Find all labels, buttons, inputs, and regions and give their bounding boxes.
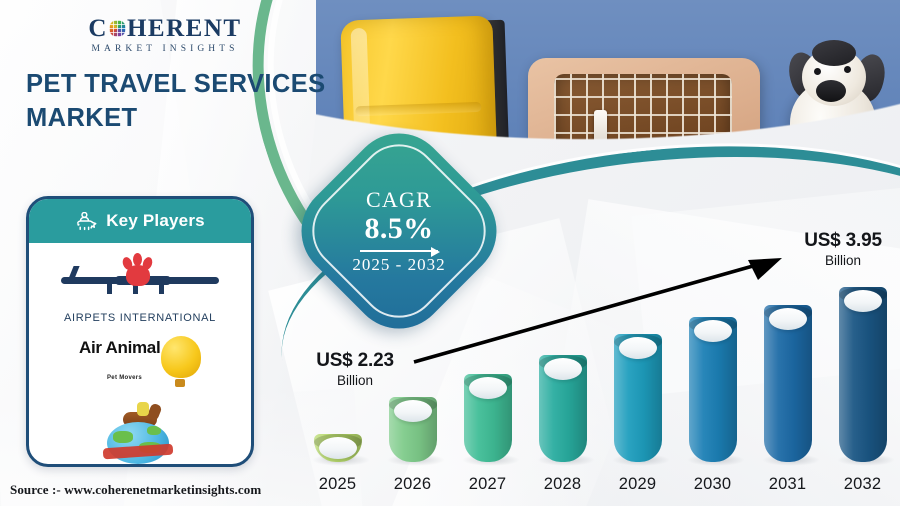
bar-category-label: 2031: [760, 475, 816, 494]
brand-logo: CHERENT MARKET INSIGHTS: [70, 16, 260, 54]
paw-pad: [126, 265, 150, 286]
brand-logo-suffix: HERENT: [127, 15, 242, 42]
hot-air-balloon-icon: Air Animal Pet Movers: [55, 337, 225, 387]
page-title-line2: MARKET: [26, 102, 326, 136]
bar-cylinder-cap: [769, 308, 807, 330]
bar-category-label: 2028: [535, 475, 591, 494]
bar-category-label: 2025: [310, 475, 366, 494]
callout-end-unit: Billion: [788, 253, 898, 268]
callout-end-value: US$ 3.95 Billion: [788, 230, 898, 268]
bar-category-label: 2030: [685, 475, 741, 494]
bar-cylinder[interactable]: [839, 287, 887, 462]
airplane-wheel: [107, 284, 112, 294]
dog-head-patch: [812, 40, 856, 66]
source-note: Source :- www.coherenetmarketinsights.co…: [10, 482, 261, 498]
key-players-header: Key Players: [29, 199, 251, 243]
bar-cylinder-cap: [319, 437, 357, 459]
cagr-label: CAGR: [366, 187, 432, 213]
globe-icon: [109, 20, 126, 37]
bar-cylinder[interactable]: [614, 334, 662, 462]
brand-logo-prefix: C: [88, 15, 108, 42]
balloon-basket: [175, 379, 185, 387]
bar-cylinder-cap: [694, 320, 732, 342]
pet-dog-icon: [75, 212, 97, 231]
bar-category-label: 2026: [385, 475, 441, 494]
bar-cylinder-cap: [469, 377, 507, 399]
cagr-value: 8.5%: [364, 212, 433, 246]
bar-cylinder-cap: [844, 290, 882, 312]
horse-globe-icon: [85, 400, 195, 464]
key-player-logo-air-animal[interactable]: Air Animal Pet Movers: [55, 337, 225, 387]
page-title: PET TRAVEL SERVICES MARKET: [26, 68, 326, 135]
airplane-wheel: [159, 284, 164, 294]
key-players-logo-list: AIRPETS INTERNATIONAL Air Animal Pet Mov…: [29, 243, 251, 467]
bar-category-label: 2027: [460, 475, 516, 494]
bar-category-label: 2032: [835, 475, 891, 494]
globe-landmass: [113, 431, 133, 443]
dog-eye-right: [844, 66, 851, 73]
infographic-canvas: CHERENT MARKET INSIGHTS PET TRAVEL SERVI…: [0, 0, 900, 506]
bar-cylinder-cap: [544, 358, 582, 380]
page-title-line1: PET TRAVEL SERVICES: [26, 70, 326, 98]
key-player-tagline: Pet Movers: [107, 375, 142, 381]
bar-chart: 20252026202720282029203020312032: [300, 276, 900, 496]
bar-cylinder[interactable]: [539, 355, 587, 462]
key-player-name: AIRPETS INTERNATIONAL: [64, 312, 216, 324]
bar-category-label: 2029: [610, 475, 666, 494]
bar-cylinder-shading: [839, 287, 887, 462]
globe-landmass: [147, 426, 161, 435]
key-player-logo-airpets[interactable]: AIRPETS INTERNATIONAL: [55, 255, 225, 324]
callout-end-amount: US$ 3.95: [788, 230, 898, 252]
dog-muzzle: [816, 80, 846, 102]
bar-cylinder-cap: [394, 400, 432, 422]
bar-cylinder-cap: [619, 337, 657, 359]
brand-logo-subtitle: MARKET INSIGHTS: [70, 44, 260, 54]
key-players-heading: Key Players: [106, 211, 205, 231]
airplane-paw-icon: [55, 255, 225, 311]
paw-print-icon: [117, 253, 159, 287]
dog-eye-left: [814, 68, 821, 75]
bar-cylinder[interactable]: [764, 305, 812, 462]
bar-cylinder[interactable]: [464, 374, 512, 462]
bar-cylinder-body: [839, 287, 887, 462]
key-player-logo-happy-tails[interactable]: [85, 400, 195, 464]
balloon-shape: [161, 336, 201, 378]
key-players-card: Key Players AIRPETS INTERNA: [26, 196, 254, 467]
horse-rider: [137, 402, 149, 416]
key-player-name: Air Animal: [79, 339, 160, 356]
brand-logo-wordmark: CHERENT: [70, 16, 260, 41]
bar-cylinder[interactable]: [689, 317, 737, 462]
bar-cylinder[interactable]: [389, 397, 437, 462]
